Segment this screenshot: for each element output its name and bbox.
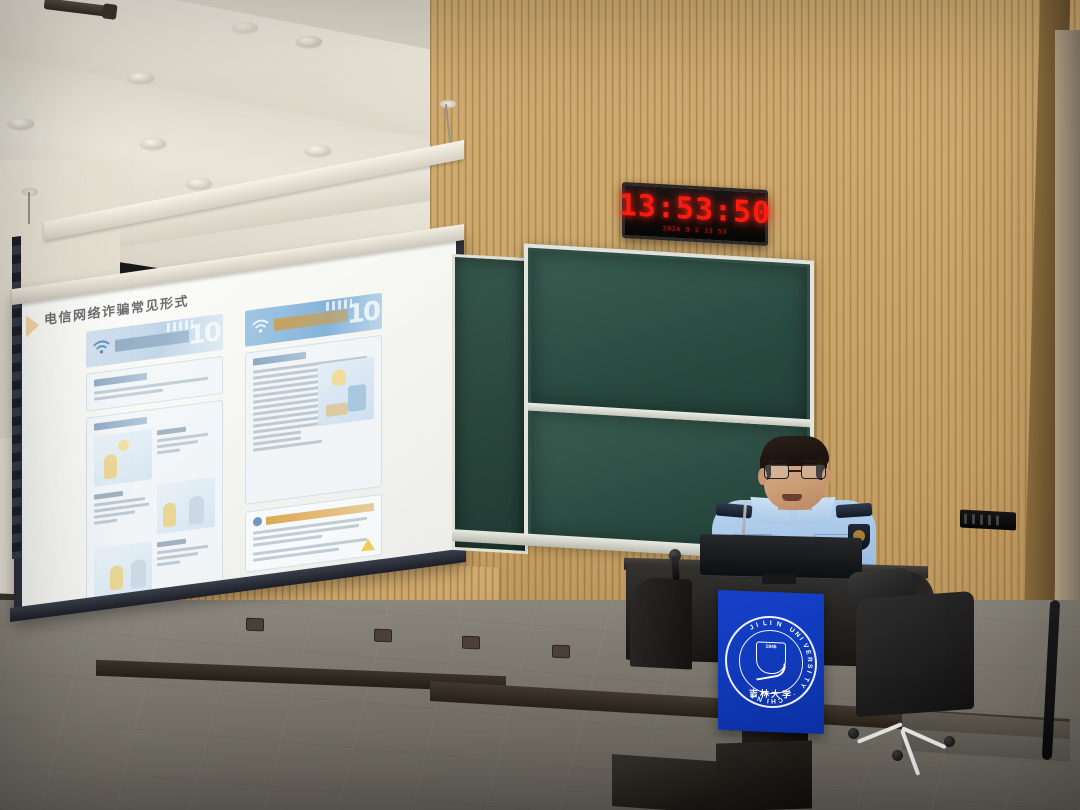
lens-right	[801, 464, 826, 479]
chalkboard-side-panel	[452, 254, 528, 554]
screen-surface: 电信网络诈骗常见形式 10	[22, 241, 456, 610]
downlight-icon	[296, 36, 322, 47]
wall-outlet[interactable]	[552, 645, 570, 659]
seal-year: 1946	[765, 644, 776, 650]
screen-ceiling-anchor	[440, 100, 456, 108]
slide-corner-accent	[26, 314, 39, 338]
downlight-icon	[8, 118, 34, 129]
section-heading-method	[94, 417, 147, 431]
university-seal: JILIN UNIVERSITY · CHINA 1946 吉林大学	[725, 614, 817, 710]
stage-step-front	[612, 754, 724, 810]
chair-leg	[857, 722, 903, 744]
section-heading-case	[253, 352, 306, 366]
illustration-step1	[94, 429, 152, 487]
downlight-icon	[140, 138, 166, 149]
seal-chinese-name: 吉林大学	[749, 686, 793, 701]
podium-front-plate: JILIN UNIVERSITY · CHINA 1946 吉林大学	[718, 590, 824, 734]
banner-number: 10	[188, 315, 220, 353]
wall-outlet[interactable]	[462, 636, 480, 650]
chalkboard-upper-panel	[531, 251, 807, 419]
panel-card	[245, 335, 382, 505]
banner-number: 10	[347, 294, 379, 332]
screen-ceiling-anchor	[22, 188, 38, 196]
desk-wing-left	[630, 576, 692, 669]
wifi-icon	[93, 338, 110, 357]
step-text	[94, 485, 152, 528]
mouth	[782, 494, 802, 501]
lecture-hall-photo: 电信网络诈骗常见形式 10	[0, 0, 1080, 810]
downlight-icon	[186, 178, 212, 189]
warning-triangle-icon	[361, 538, 375, 552]
step-label	[94, 491, 123, 500]
illustration-case	[318, 357, 374, 426]
wall-outlet[interactable]	[246, 618, 264, 632]
clock-time-display: 13:53:50	[619, 190, 772, 229]
step-label	[157, 427, 186, 436]
shield-icon	[253, 517, 262, 527]
step-text	[157, 533, 215, 570]
stage-step-back	[716, 740, 812, 810]
step-text	[157, 421, 215, 458]
chair-caster	[848, 728, 859, 739]
chair-base	[846, 712, 962, 770]
screen-hanger-wire	[28, 192, 30, 224]
step-row	[94, 477, 215, 543]
banner-title-text	[115, 330, 189, 352]
chair-caster	[944, 736, 955, 747]
monitor-stand	[762, 574, 796, 585]
downlight-icon	[128, 72, 154, 83]
downlight-icon	[305, 145, 331, 156]
slide-panel-left: 10	[86, 314, 223, 607]
step-label	[157, 539, 186, 548]
eyeglasses	[762, 464, 828, 479]
chair-caster	[892, 750, 903, 761]
slide-panel-right: 10	[245, 293, 382, 586]
wall-outlet[interactable]	[374, 629, 392, 643]
office-chair[interactable]	[856, 591, 974, 717]
downlight-icon	[232, 22, 258, 33]
illustration-step2	[157, 477, 215, 535]
panel-card	[86, 400, 223, 607]
banner-title-text	[274, 309, 348, 331]
epaulette-right	[836, 503, 873, 518]
glasses-bridge	[789, 470, 801, 472]
step-row	[94, 421, 215, 487]
section-heading-routine	[94, 373, 147, 387]
lens-left	[764, 464, 789, 479]
note-heading-text	[266, 502, 374, 524]
wall-switch-panel[interactable]	[960, 510, 1016, 531]
presentation-slide: 电信网络诈骗常见形式 10	[22, 241, 456, 610]
screen-left-edge	[12, 236, 21, 559]
wifi-icon	[252, 317, 269, 336]
led-wall-clock: 13:53:50 2024 9 2 13 53	[622, 182, 768, 246]
